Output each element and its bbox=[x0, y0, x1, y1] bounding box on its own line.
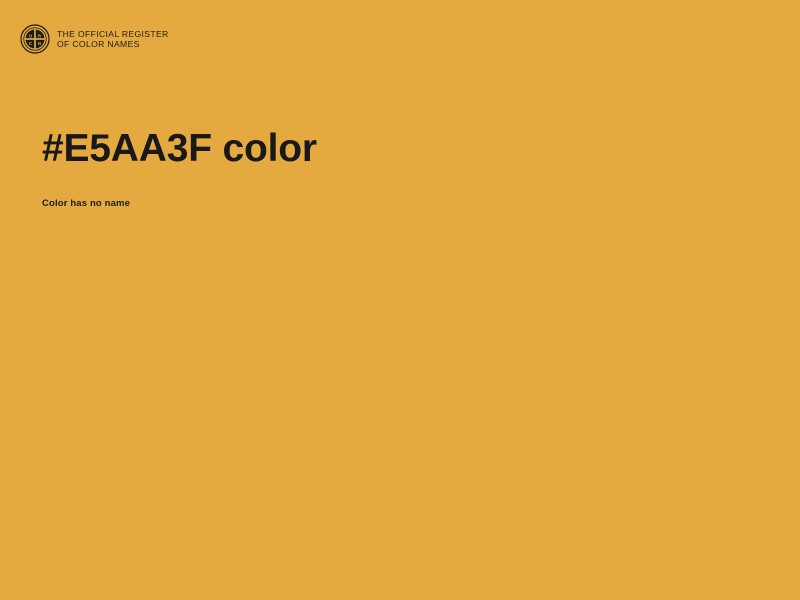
brand-line-1: THE OFFICIAL REGISTER bbox=[57, 29, 169, 39]
register-seal-icon-svg: O R C N bbox=[20, 24, 50, 54]
register-seal-icon: O R C N bbox=[20, 24, 50, 54]
color-page: O R C N THE OFFICIAL REGISTER OF COLOR N… bbox=[0, 0, 800, 600]
svg-text:N: N bbox=[38, 41, 41, 46]
brand-wordmark: THE OFFICIAL REGISTER OF COLOR NAMES bbox=[57, 29, 169, 49]
brand-line-2: OF COLOR NAMES bbox=[57, 39, 169, 49]
color-info-block: #E5AA3F color Color has no name bbox=[42, 128, 742, 171]
page-title: #E5AA3F color bbox=[42, 128, 742, 171]
svg-text:O: O bbox=[29, 33, 33, 38]
brand-lockup[interactable]: O R C N THE OFFICIAL REGISTER OF COLOR N… bbox=[20, 24, 169, 54]
color-name-status: Color has no name bbox=[42, 198, 130, 209]
